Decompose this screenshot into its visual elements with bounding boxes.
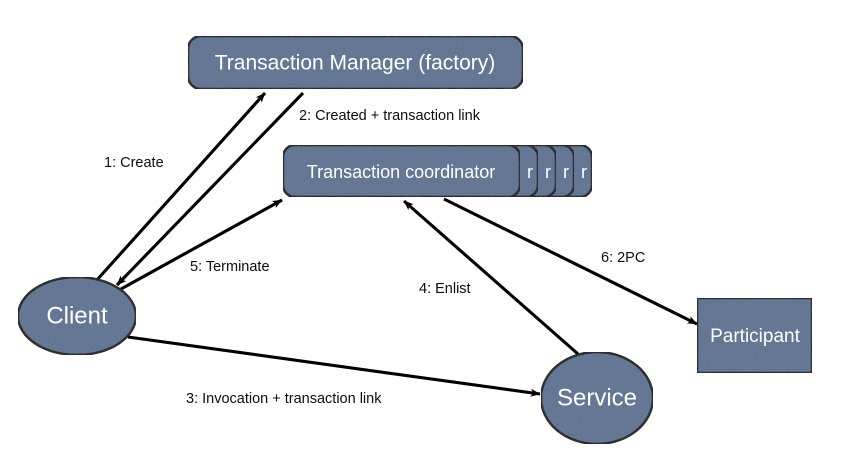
coordinator-stack-glyph-4: r (563, 162, 569, 182)
node-service[interactable]: Service (541, 352, 653, 444)
connectors-layer (96, 93, 697, 394)
edge-3-invocation-line (128, 337, 540, 394)
node-client[interactable]: Client (18, 277, 136, 355)
node-transaction-coordinator[interactable]: r r r r Transaction coordinator (283, 145, 592, 197)
edge-2-created-line (117, 93, 303, 285)
client-label: Client (46, 302, 108, 329)
service-label: Service (557, 384, 637, 411)
coordinator-stack-glyph-5: r (581, 162, 587, 182)
node-transaction-manager[interactable]: Transaction Manager (factory) (188, 36, 523, 89)
coordinator-label: Transaction coordinator (307, 162, 495, 182)
edge-5-terminate-label: 5: Terminate (190, 259, 270, 275)
coordinator-stack-glyph-2: r (527, 162, 533, 182)
edge-4-enlist-label: 4: Enlist (419, 281, 471, 297)
edge-3-invocation-label: 3: Invocation + transaction link (186, 391, 382, 407)
node-participant[interactable]: Participant (697, 298, 812, 373)
participant-label: Participant (710, 326, 800, 347)
edge-5-terminate-line (121, 200, 282, 289)
edge-1-create-label: 1: Create (104, 155, 164, 171)
diagram-canvas: r r r r Transaction coordinator T (0, 0, 848, 469)
edge-1-create-line (96, 93, 265, 281)
edge-6-2pc-line (444, 199, 697, 324)
edge-2-created-label: 2: Created + transaction link (299, 108, 481, 124)
transaction-manager-label: Transaction Manager (factory) (215, 52, 496, 75)
coordinator-stack-glyph-3: r (545, 162, 551, 182)
edge-6-2pc-label: 6: 2PC (601, 250, 645, 266)
diagram-svg: r r r r Transaction coordinator T (0, 0, 848, 469)
coordinator-stack-layer-1: Transaction coordinator (283, 145, 520, 197)
